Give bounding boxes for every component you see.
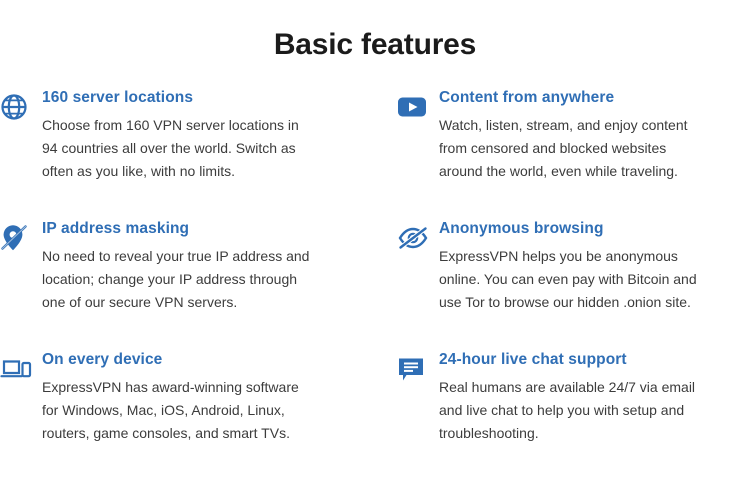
- feature-text: IP address masking No need to reveal you…: [42, 219, 375, 314]
- feature-item-ip-masking: IP address masking No need to reveal you…: [0, 219, 375, 350]
- feature-title: IP address masking: [42, 219, 375, 239]
- basic-features-section: Basic features 160 server locations Choo…: [0, 0, 750, 483]
- location-off-icon: [0, 219, 42, 255]
- feature-text: 160 server locations Choose from 160 VPN…: [42, 88, 375, 183]
- feature-title: 160 server locations: [42, 88, 375, 108]
- feature-description: No need to reveal your true IP address a…: [42, 245, 314, 314]
- feature-description: ExpressVPN helps you be anonymous online…: [439, 245, 711, 314]
- feature-title: On every device: [42, 350, 375, 370]
- feature-description: Choose from 160 VPN server locations in …: [42, 114, 314, 183]
- feature-text: Anonymous browsing ExpressVPN helps you …: [439, 219, 750, 314]
- feature-item-content-anywhere: Content from anywhere Watch, listen, str…: [375, 88, 750, 219]
- page-title: Basic features: [0, 0, 750, 64]
- eye-off-icon: [397, 219, 439, 255]
- feature-title: Content from anywhere: [439, 88, 750, 108]
- feature-item-live-chat-support: 24-hour live chat support Real humans ar…: [375, 350, 750, 481]
- feature-description: ExpressVPN has award-winning software fo…: [42, 376, 314, 445]
- feature-title: Anonymous browsing: [439, 219, 750, 239]
- chat-bubble-icon: [397, 350, 439, 386]
- devices-icon: [0, 350, 42, 386]
- feature-item-server-locations: 160 server locations Choose from 160 VPN…: [0, 88, 375, 219]
- feature-item-on-every-device: On every device ExpressVPN has award-win…: [0, 350, 375, 481]
- features-grid: 160 server locations Choose from 160 VPN…: [0, 88, 750, 481]
- feature-text: Content from anywhere Watch, listen, str…: [439, 88, 750, 183]
- globe-icon: [0, 88, 42, 124]
- video-play-icon: [397, 88, 439, 124]
- feature-text: 24-hour live chat support Real humans ar…: [439, 350, 750, 445]
- feature-description: Watch, listen, stream, and enjoy content…: [439, 114, 711, 183]
- feature-title: 24-hour live chat support: [439, 350, 750, 370]
- feature-text: On every device ExpressVPN has award-win…: [42, 350, 375, 445]
- feature-item-anonymous-browsing: Anonymous browsing ExpressVPN helps you …: [375, 219, 750, 350]
- feature-description: Real humans are available 24/7 via email…: [439, 376, 711, 445]
